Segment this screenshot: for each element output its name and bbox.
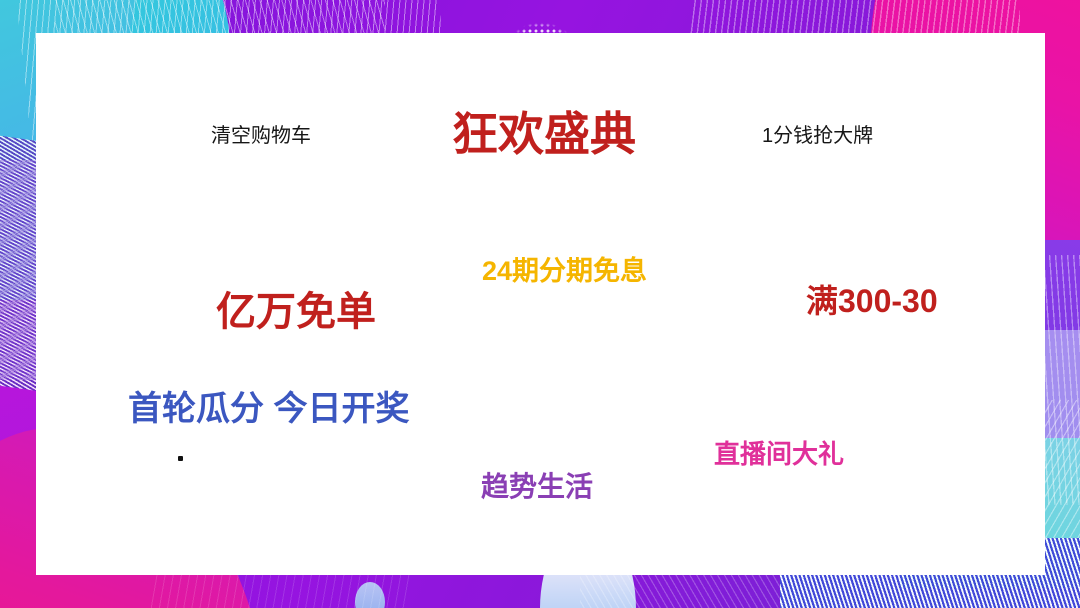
promo-text-hundred-million-free-order: 亿万免单 [216,292,376,332]
promo-text-full-300-off-30: 满300-30 [806,285,938,317]
promo-text-carnival-gala: 狂欢盛典 [452,111,636,157]
light-teardrop-small [355,582,385,608]
promo-text-first-round-split-today-draw: 首轮瓜分 今日开奖 [128,392,409,426]
bullet-dot-mark [178,456,183,461]
promo-text-live-room-big-gift: 直播间大礼 [714,441,844,467]
promo-text-one-cent-grab-brand: 1分钱抢大牌 [762,126,873,146]
slide-canvas: 清空购物车狂欢盛典1分钱抢大牌24期分期免息亿万免单满300-30首轮瓜分 今日… [0,0,1080,608]
promo-text-trend-life: 趋势生活 [481,473,593,501]
white-content-panel: 清空购物车狂欢盛典1分钱抢大牌24期分期免息亿万免单满300-30首轮瓜分 今日… [36,33,1045,575]
promo-text-clear-cart: 清空购物车 [211,126,311,146]
promo-text-interest-free-24: 24期分期免息 [482,258,647,285]
